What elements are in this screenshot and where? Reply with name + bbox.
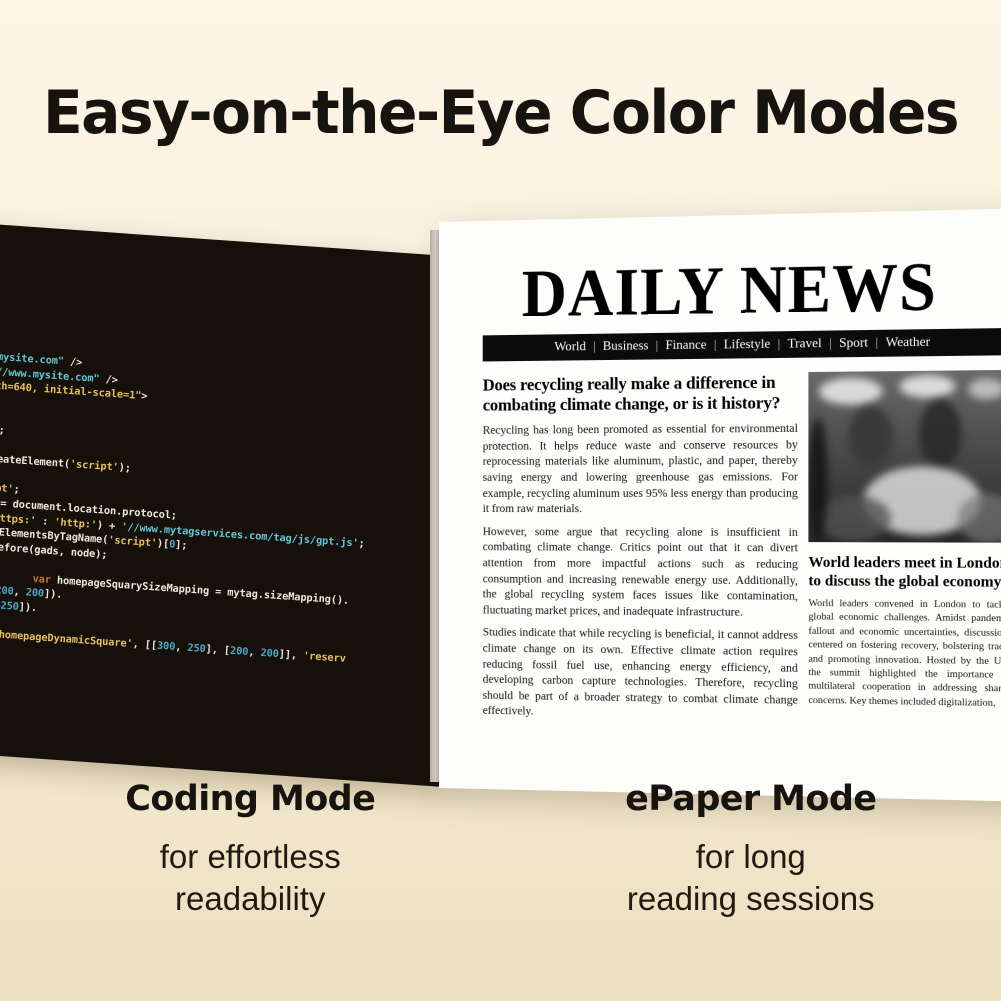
code-token: ]). [18, 601, 37, 614]
caption-title: Coding Mode [0, 778, 501, 820]
code-token: /> [99, 373, 118, 386]
nav-item-weather[interactable]: Weather [883, 335, 932, 350]
code-token: , [[ [132, 638, 157, 652]
code-token: 200 [230, 645, 249, 658]
nav-item-travel[interactable]: Travel [785, 336, 823, 351]
code-token: , [13, 586, 26, 599]
main-article-paragraph: Studies indicate that while recycling is… [483, 626, 798, 725]
code-token: ; [358, 537, 365, 549]
code-token: 200 [0, 585, 14, 598]
nav-item-finance[interactable]: Finance [663, 338, 708, 353]
caption-subtitle: for effortless readability [0, 836, 501, 920]
nav-separator: | [709, 338, 722, 352]
nav-separator: | [588, 339, 601, 353]
mode-captions: Coding Mode for effortless readability e… [0, 778, 1001, 920]
nav-separator: | [824, 336, 837, 351]
code-token: 'script' [108, 534, 157, 549]
code-token: ]). [44, 588, 63, 601]
code-token: , [248, 646, 261, 659]
code-token: 'script' [70, 458, 119, 473]
code-token: ); [118, 462, 131, 475]
code-token: 200 [260, 647, 279, 660]
caption-title: ePaper Mode [501, 778, 1001, 820]
nav-item-sport[interactable]: Sport [837, 336, 870, 351]
caption-subtitle-line: for effortless [0, 836, 501, 878]
code-token: ]], [278, 648, 303, 662]
newspaper-columns: Does recycling really make a difference … [483, 370, 1001, 736]
caption-epaper-mode: ePaper Mode for long reading sessions [501, 778, 1001, 920]
caption-subtitle-line: readability [0, 878, 501, 920]
page-title: Easy-on-the-Eye Color Modes [15, 78, 986, 148]
code-token: ], [ [205, 643, 230, 657]
code-token: 'reserv [303, 650, 346, 665]
mode-preview-stage: OCTYPE html>ml lang="en">ad>title>My per… [0, 200, 1001, 800]
code-token: 'https:' [0, 511, 36, 526]
nav-separator: | [870, 335, 883, 350]
code-token: () { [0, 568, 33, 585]
code-editor-content: OCTYPE html>ml lang="en">ad>title>My per… [0, 210, 478, 787]
main-article-column: Does recycling really make a difference … [483, 373, 798, 733]
newspaper-page: DAILY NEWS World|Business|Finance|Lifest… [439, 208, 1001, 802]
nav-separator: | [772, 337, 785, 352]
nav-item-lifestyle[interactable]: Lifestyle [722, 337, 773, 352]
nav-item-business[interactable]: Business [601, 339, 651, 354]
main-article-headline: Does recycling really make a difference … [483, 373, 798, 416]
epaper-mode-panel: DAILY NEWS World|Business|Finance|Lifest… [430, 222, 1001, 782]
caption-subtitle-line: reading sessions [501, 878, 1001, 920]
coding-mode-panel: OCTYPE html>ml lang="en">ad>title>My per… [0, 210, 478, 787]
code-token: , [175, 641, 188, 654]
code-token: ) + [97, 519, 122, 533]
caption-subtitle-line: for long [501, 836, 1001, 878]
caption-coding-mode: Coding Mode for effortless readability [0, 778, 501, 920]
side-article-headline: World leaders meet in London to discuss … [808, 555, 1001, 592]
newspaper-nav[interactable]: World|Business|Finance|Lifestyle|Travel|… [483, 329, 1001, 362]
nav-item-world[interactable]: World [552, 339, 588, 354]
newspaper-masthead: DAILY NEWS [439, 250, 1001, 331]
main-article-paragraph: Recycling has long been promoted as esse… [483, 422, 798, 518]
recycling-facility-photo [808, 370, 1001, 543]
code-token: var [32, 573, 51, 586]
code-token: 250 [0, 600, 19, 613]
nav-separator: | [651, 338, 664, 352]
side-article-column: World leaders meet in London to discuss … [808, 370, 1001, 736]
code-token: ; [13, 484, 20, 496]
code-token: 200 [25, 587, 44, 600]
code-token: 300 [157, 640, 176, 653]
caption-subtitle: for long reading sessions [501, 836, 1001, 920]
main-article-paragraph: However, some argue that recycling alone… [483, 525, 798, 622]
code-token: ]; [175, 539, 188, 552]
code-token: : [36, 514, 55, 527]
code-token: /> [64, 355, 83, 368]
code-token: 'http:' [54, 516, 97, 531]
code-token: > [141, 390, 148, 402]
side-article-body: World leaders convened in London to tack… [808, 597, 1001, 711]
code-token: 250 [187, 642, 206, 655]
